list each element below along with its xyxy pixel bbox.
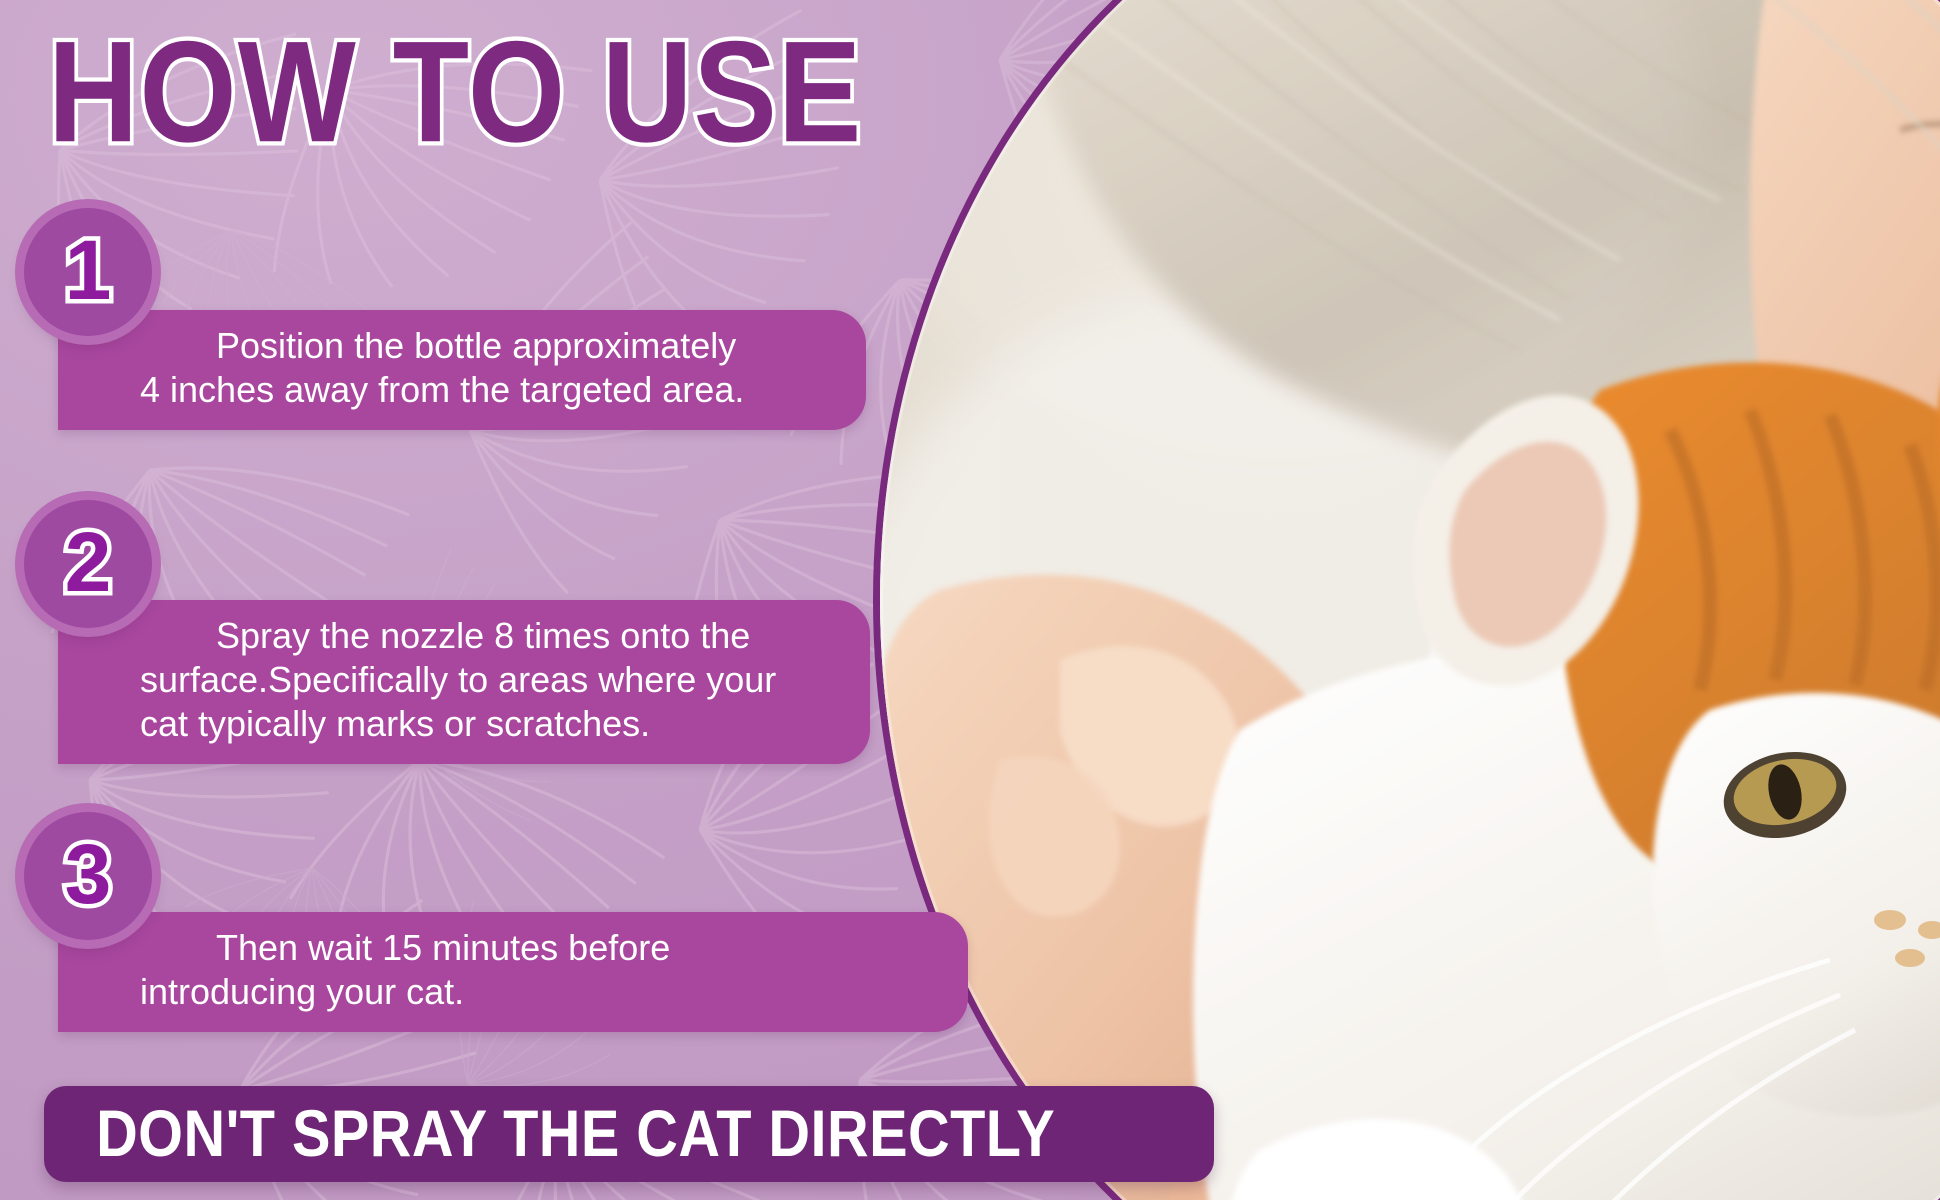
step-3-number: 3: [65, 832, 112, 916]
step-1-line-1: Position the bottle approximately: [140, 324, 840, 368]
step-2-badge: 2: [24, 500, 152, 628]
infographic-canvas: HOW TO USE Position the bottle approxima…: [0, 0, 1940, 1200]
step-3-line-1: Then wait 15 minutes before: [140, 926, 942, 970]
warning-banner: DON'T SPRAY THE CAT DIRECTLY: [44, 1086, 1214, 1182]
step-1-textbox: Position the bottle approximately 4 inch…: [58, 310, 866, 430]
page-title: HOW TO USE: [48, 18, 862, 169]
step-2-textbox: Spray the nozzle 8 times onto the surfac…: [58, 600, 870, 764]
step-1-badge: 1: [24, 208, 152, 336]
step-3-line-2: introducing your cat.: [140, 970, 942, 1014]
warning-banner-text: DON'T SPRAY THE CAT DIRECTLY: [44, 1096, 1055, 1171]
photo-child-with-cat: [880, 0, 1940, 1200]
step-2-line-3: cat typically marks or scratches.: [140, 702, 844, 746]
step-2-number: 2: [65, 520, 112, 604]
step-1-line-2: 4 inches away from the targeted area.: [140, 368, 840, 412]
step-1-number: 1: [65, 228, 112, 312]
step-2-line-2: surface.Specifically to areas where your: [140, 658, 844, 702]
step-3-textbox: Then wait 15 minutes before introducing …: [58, 912, 968, 1032]
step-3-badge: 3: [24, 812, 152, 940]
step-2-line-1: Spray the nozzle 8 times onto the: [140, 614, 844, 658]
